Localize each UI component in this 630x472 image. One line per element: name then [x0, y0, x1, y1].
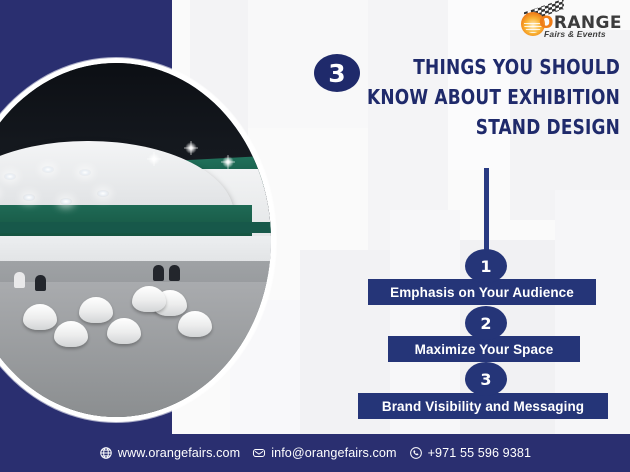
step-badge-2: 2 [465, 306, 507, 340]
footer-email-label: info@orangefairs.com [271, 446, 396, 460]
contact-footer: www.orangefairs.com info@orangefairs.com… [0, 434, 630, 472]
footer-email[interactable]: info@orangefairs.com [252, 446, 396, 460]
step-bar-1[interactable]: Emphasis on Your Audience [368, 279, 596, 305]
footer-website-label: www.orangefairs.com [118, 446, 240, 460]
poster-canvas: Oren Hydrocarbons [0, 0, 630, 472]
orange-fairs-logo: ORANGE Fairs & Events [508, 4, 620, 38]
photo-frame: Oren Hydrocarbons [0, 58, 276, 422]
globe-icon [99, 446, 113, 460]
footer-phone[interactable]: +971 55 596 9381 [409, 446, 532, 460]
step-bar-3[interactable]: Brand Visibility and Messaging [358, 393, 608, 419]
exhibition-stand-photo: Oren Hydrocarbons [0, 63, 271, 417]
phone-icon [409, 446, 423, 460]
headline-line-3: STAND DESIGN [337, 112, 620, 142]
envelope-icon [252, 446, 266, 460]
headline-line-2: KNOW ABOUT EXHIBITION [337, 82, 620, 112]
footer-phone-label: +971 55 596 9381 [428, 446, 532, 460]
step-badge-3: 3 [465, 362, 507, 396]
headline-block: 3 THINGS YOU SHOULD KNOW ABOUT EXHIBITIO… [312, 52, 620, 142]
headline-line-1: THINGS YOU SHOULD [337, 52, 620, 82]
logo-tagline: Fairs & Events [544, 29, 606, 39]
step-badge-1: 1 [465, 249, 507, 283]
footer-website[interactable]: www.orangefairs.com [99, 446, 240, 460]
